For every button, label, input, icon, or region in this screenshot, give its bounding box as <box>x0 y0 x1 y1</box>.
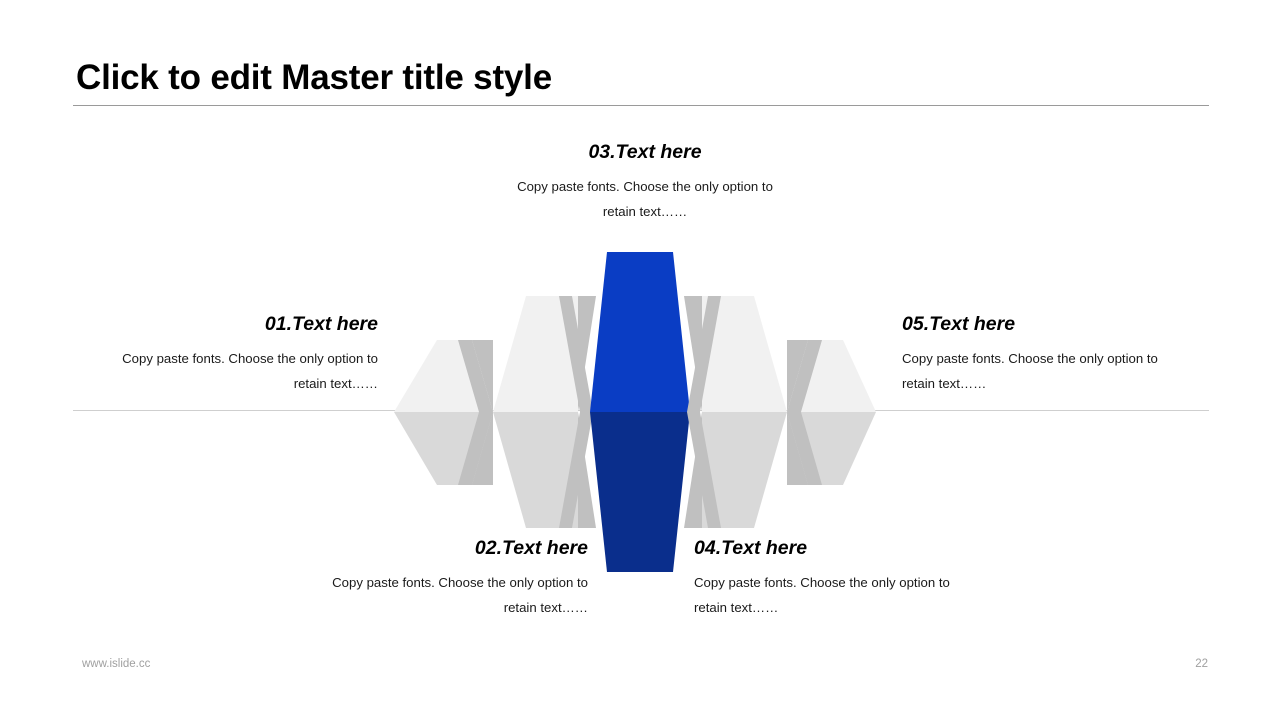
footer-website-link[interactable]: www.islide.cc <box>82 658 150 670</box>
text-block-03-heading: 03.Text here <box>495 140 795 164</box>
text-block-04-body-line1: Copy paste fonts. Choose the only option… <box>694 570 994 595</box>
text-block-02: 02.Text here Copy paste fonts. Choose th… <box>300 536 588 620</box>
title-divider <box>73 105 1209 106</box>
text-block-01-body-line2: retain text…… <box>90 371 378 396</box>
text-block-03-body-line1: Copy paste fonts. Choose the only option… <box>495 174 795 199</box>
text-block-05-heading: 05.Text here <box>902 312 1202 336</box>
text-block-01: 01.Text here Copy paste fonts. Choose th… <box>90 312 378 396</box>
text-block-04-body-line2: retain text…… <box>694 595 994 620</box>
page-number: 22 <box>1168 658 1208 670</box>
five-step-3d-block-diagram <box>380 240 890 580</box>
text-block-02-body-line1: Copy paste fonts. Choose the only option… <box>300 570 588 595</box>
text-block-03: 03.Text here Copy paste fonts. Choose th… <box>495 140 795 224</box>
text-block-04-body: Copy paste fonts. Choose the only option… <box>694 570 994 620</box>
text-block-04-heading: 04.Text here <box>694 536 994 560</box>
text-block-03-body: Copy paste fonts. Choose the only option… <box>495 174 795 224</box>
text-block-01-body-line1: Copy paste fonts. Choose the only option… <box>90 346 378 371</box>
text-block-01-body: Copy paste fonts. Choose the only option… <box>90 346 378 396</box>
text-block-03-body-line2: retain text…… <box>495 199 795 224</box>
text-block-02-body: Copy paste fonts. Choose the only option… <box>300 570 588 620</box>
text-block-01-heading: 01.Text here <box>90 312 378 336</box>
text-block-05-body: Copy paste fonts. Choose the only option… <box>902 346 1202 396</box>
text-block-02-heading: 02.Text here <box>300 536 588 560</box>
text-block-05-body-line2: retain text…… <box>902 371 1202 396</box>
diagram-block-03-highlight <box>590 252 690 572</box>
page-title: Click to edit Master title style <box>76 56 1210 100</box>
text-block-05: 05.Text here Copy paste fonts. Choose th… <box>902 312 1202 396</box>
text-block-05-body-line1: Copy paste fonts. Choose the only option… <box>902 346 1202 371</box>
text-block-04: 04.Text here Copy paste fonts. Choose th… <box>694 536 994 620</box>
text-block-02-body-line2: retain text…… <box>300 595 588 620</box>
